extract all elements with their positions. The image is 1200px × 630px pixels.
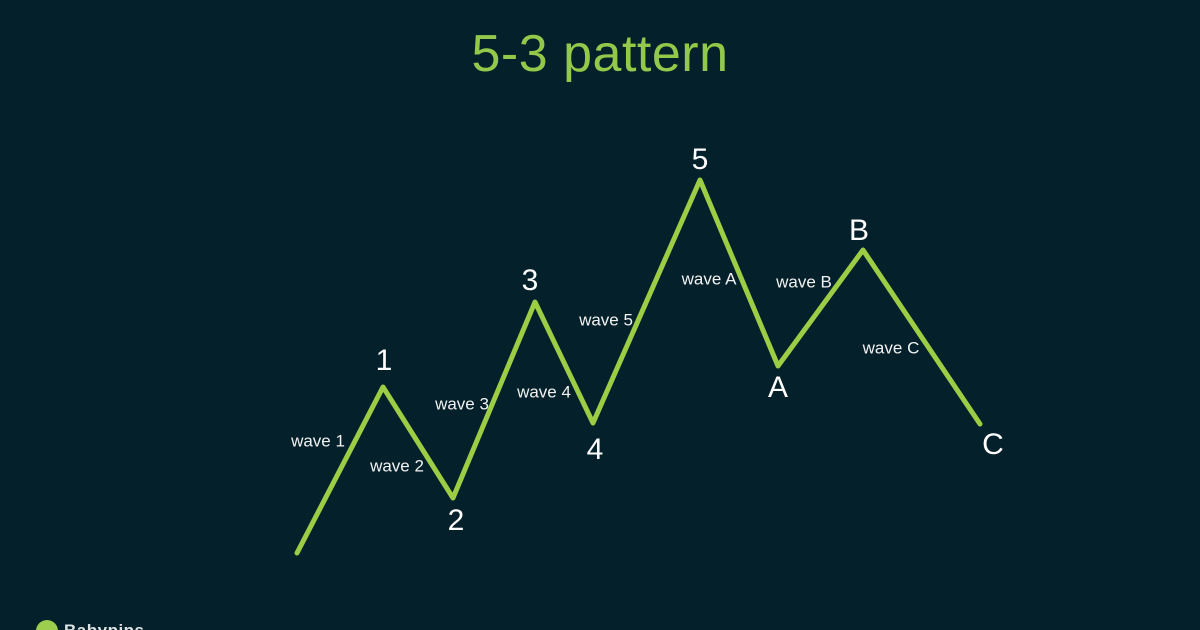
chart-canvas: 5-3 pattern 12345ABC wave 1wave 2wave 3w… xyxy=(0,0,1200,630)
wave-point-label: 5 xyxy=(692,145,709,175)
wave-segment-label: wave 3 xyxy=(435,396,489,413)
wave-polyline xyxy=(297,180,980,553)
wave-point-label: 2 xyxy=(448,506,465,536)
wave-segment-label: wave A xyxy=(682,271,737,288)
wave-point-label: B xyxy=(849,216,869,246)
wave-point-label: C xyxy=(982,430,1004,460)
watermark-mark-icon xyxy=(36,620,58,630)
wave-segment-label: wave 4 xyxy=(517,384,571,401)
wave-segment-label: wave 2 xyxy=(370,458,424,475)
watermark-label: Babypips xyxy=(64,621,145,630)
wave-point-label: 1 xyxy=(376,346,393,376)
wave-point-label: A xyxy=(768,373,788,403)
wave-point-label: 3 xyxy=(522,266,539,296)
wave-point-label: 4 xyxy=(587,435,604,465)
wave-segment-label: wave B xyxy=(776,274,832,291)
wave-segment-label: wave 5 xyxy=(579,312,633,329)
watermark-logo: Babypips xyxy=(36,618,145,630)
wave-segment-label: wave C xyxy=(863,340,920,357)
wave-segment-label: wave 1 xyxy=(291,433,345,450)
